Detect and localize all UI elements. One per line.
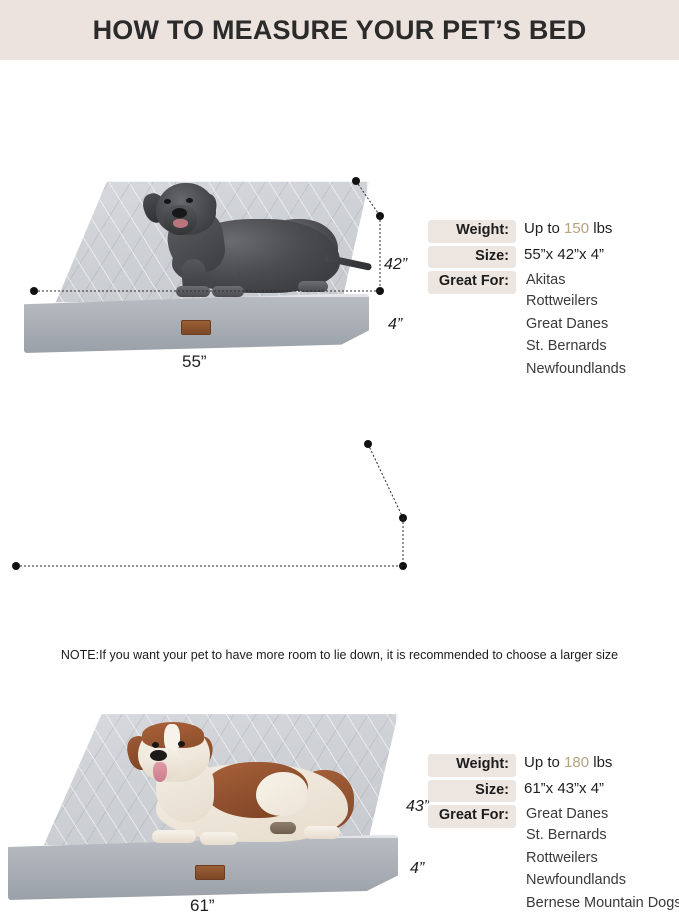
dog-tongue — [153, 762, 167, 782]
breed-list-xlarge: Great Danes St. Bernards Rottweilers New… — [516, 805, 679, 914]
st-bernard-illustration — [108, 722, 358, 852]
spec-label-size: Size: — [428, 246, 516, 269]
spec-label-weight: Weight: — [428, 220, 516, 243]
weight-suffix: lbs — [593, 754, 612, 771]
dog-mouth — [173, 219, 188, 228]
dog-eye — [186, 198, 193, 203]
great-dane-illustration — [128, 181, 343, 299]
list-item: St. Bernards — [526, 824, 679, 846]
list-item: Rottweilers — [526, 847, 679, 869]
spec-value-size: 61”x 43”x 4” — [516, 780, 604, 799]
page-title: HOW TO MEASURE YOUR PET’S BED — [93, 15, 587, 46]
spec-label-great-for: Great For: — [428, 271, 516, 294]
dog-paw — [270, 822, 296, 834]
spec-row-size: Size: 55”x 42”x 4” — [428, 246, 678, 269]
dimension-label-depth: 43” — [406, 798, 429, 816]
weight-suffix: lbs — [593, 220, 612, 237]
weight-prefix: Up to — [524, 754, 560, 771]
bed-illustration-large — [24, 178, 369, 353]
list-item: Great Danes — [526, 805, 679, 824]
spec-label-great-for: Great For: — [428, 805, 516, 828]
spec-row-weight: Weight: Up to 150 lbs — [428, 220, 678, 243]
spec-row-weight: Weight: Up to 180 lbs — [428, 754, 678, 777]
spec-value-size: 55”x 42”x 4” — [516, 246, 604, 265]
dimension-label-height: 4” — [410, 860, 424, 878]
brand-leather-tag — [195, 865, 225, 880]
spec-table-xlarge: Weight: Up to 180 lbs Size: 61”x 43”x 4”… — [428, 754, 678, 917]
product-section-large: 42” 4” 55” Weight: Up to 150 lbs Size: 5… — [0, 60, 679, 322]
header-banner: HOW TO MEASURE YOUR PET’S BED — [0, 0, 679, 60]
spec-value-weight: Up to 180 lbs — [516, 754, 612, 773]
spec-value-weight: Up to 150 lbs — [516, 220, 612, 239]
dog-nose — [150, 750, 167, 761]
dog-nose — [172, 208, 187, 218]
list-item: Bernese Mountain Dogs — [526, 892, 679, 914]
weight-prefix: Up to — [524, 220, 560, 237]
spec-row-size: Size: 61”x 43”x 4” — [428, 780, 678, 803]
dog-paw — [298, 281, 328, 292]
list-item: Akitas — [526, 271, 626, 290]
footer-note: NOTE:If you want your pet to have more r… — [0, 648, 679, 662]
dog-paw — [176, 286, 210, 297]
list-item: Rottweilers — [526, 290, 626, 312]
dog-paw — [200, 832, 238, 845]
bed-illustration-xlarge — [8, 710, 398, 900]
dog-paw — [212, 286, 244, 297]
dimension-label-width: 61” — [190, 896, 215, 916]
spec-row-great-for: Great For: Great Danes St. Bernards Rott… — [428, 805, 678, 914]
dog-coat-marking — [256, 772, 308, 816]
dog-paw — [304, 826, 340, 839]
dog-eye — [178, 741, 185, 747]
dimension-label-depth: 42” — [384, 256, 407, 274]
dog-eye — [164, 199, 171, 204]
spec-label-weight: Weight: — [428, 754, 516, 777]
spec-label-size: Size: — [428, 780, 516, 803]
product-section-xlarge: 43” 4” 61” Weight: Up to 180 lbs Size: 6… — [0, 330, 679, 630]
dog-paw — [152, 830, 196, 843]
list-item: Newfoundlands — [526, 869, 679, 891]
weight-value: 150 — [564, 220, 589, 237]
weight-value: 180 — [564, 754, 589, 771]
